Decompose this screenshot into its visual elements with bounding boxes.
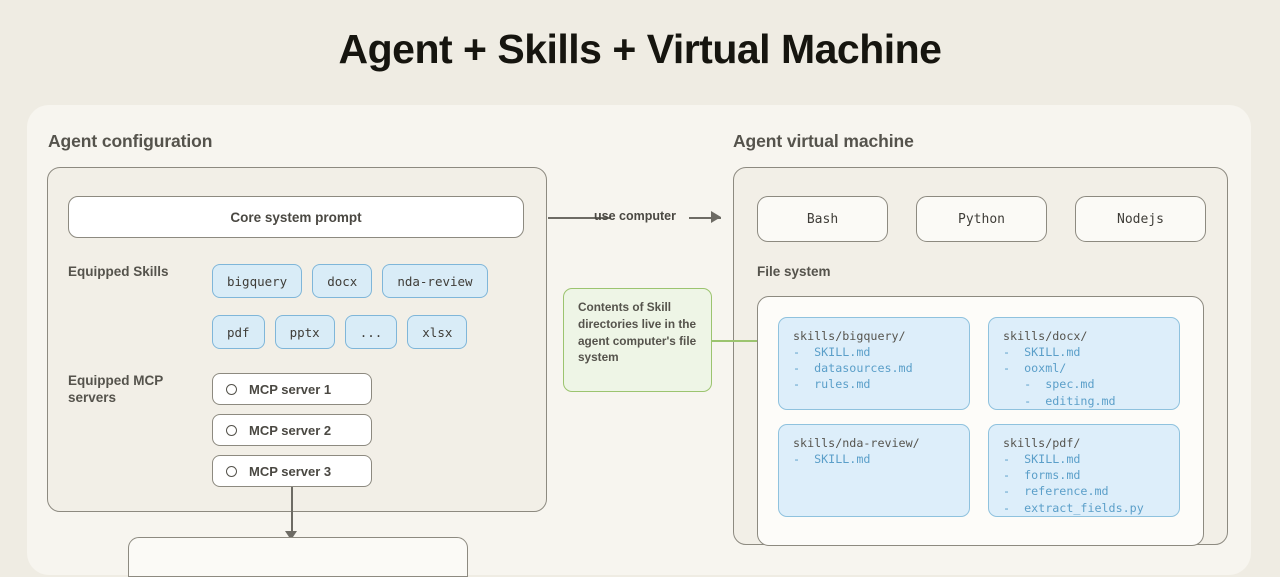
- circle-icon: [226, 466, 237, 477]
- directory-entry: - SKILL.md: [793, 451, 969, 467]
- equipped-skills-label: Equipped Skills: [68, 264, 169, 281]
- skill-chip[interactable]: pdf: [212, 315, 265, 349]
- skill-directory-card[interactable]: skills/docx/ - SKILL.md - ooxml/ - spec.…: [988, 317, 1180, 410]
- directory-path: skills/nda-review/: [793, 435, 969, 451]
- directory-entry: - editing.md: [1003, 393, 1179, 409]
- mcp-server-label: MCP server 2: [249, 423, 331, 438]
- mcp-server-row[interactable]: MCP server 3: [212, 455, 372, 487]
- equipped-mcp-servers-label: Equipped MCP servers: [68, 373, 198, 407]
- directory-path: skills/pdf/: [1003, 435, 1179, 451]
- file-system-grid: skills/bigquery/ - SKILL.md - datasource…: [778, 317, 1183, 517]
- use-computer-label: use computer: [594, 209, 676, 223]
- agent-configuration-heading: Agent configuration: [48, 131, 212, 152]
- skill-chip[interactable]: bigquery: [212, 264, 302, 298]
- runtime-chip-python[interactable]: Python: [916, 196, 1047, 242]
- runtime-chip-bash[interactable]: Bash: [757, 196, 888, 242]
- file-system-label: File system: [757, 264, 831, 279]
- mcp-down-connector-line: [291, 487, 293, 537]
- skill-contents-callout: Contents of Skill directories live in th…: [563, 288, 712, 392]
- skill-chips-row-2: pdf pptx ... xlsx: [212, 315, 467, 349]
- directory-entry: - reference.md: [1003, 483, 1179, 499]
- page-title: Agent + Skills + Virtual Machine: [0, 26, 1280, 73]
- skill-chips-row-1: bigquery docx nda-review: [212, 264, 488, 298]
- skill-chip[interactable]: nda-review: [382, 264, 487, 298]
- directory-path: skills/bigquery/: [793, 328, 969, 344]
- circle-icon: [226, 425, 237, 436]
- mcp-server-label: MCP server 1: [249, 382, 331, 397]
- mcp-server-label: MCP server 3: [249, 464, 331, 479]
- directory-entry: - SKILL.md: [1003, 344, 1179, 360]
- skill-chip[interactable]: docx: [312, 264, 372, 298]
- directory-entry: - rules.md: [793, 376, 969, 392]
- mcp-server-list: MCP server 1 MCP server 2 MCP server 3: [212, 373, 372, 496]
- runtime-chips: Bash Python Nodejs: [757, 196, 1206, 242]
- bottom-partial-box: [128, 537, 468, 577]
- arrow-right-icon: [711, 211, 721, 223]
- skill-chip[interactable]: xlsx: [407, 315, 467, 349]
- directory-entry: - forms.md: [1003, 467, 1179, 483]
- directory-entry: - datasources.md: [793, 360, 969, 376]
- skill-directory-card[interactable]: skills/bigquery/ - SKILL.md - datasource…: [778, 317, 970, 410]
- circle-icon: [226, 384, 237, 395]
- skill-chip-overflow[interactable]: ...: [345, 315, 398, 349]
- directory-entry: - spec.md: [1003, 376, 1179, 392]
- directory-entry: - SKILL.md: [793, 344, 969, 360]
- directory-path: skills/docx/: [1003, 328, 1179, 344]
- runtime-chip-nodejs[interactable]: Nodejs: [1075, 196, 1206, 242]
- mcp-server-row[interactable]: MCP server 2: [212, 414, 372, 446]
- directory-entry: - SKILL.md: [1003, 451, 1179, 467]
- mcp-server-row[interactable]: MCP server 1: [212, 373, 372, 405]
- skill-directory-card[interactable]: skills/nda-review/ - SKILL.md: [778, 424, 970, 517]
- directory-entry: - extract_fields.py: [1003, 500, 1179, 516]
- directory-entry: - ooxml/: [1003, 360, 1179, 376]
- skill-chip[interactable]: pptx: [275, 315, 335, 349]
- core-system-prompt-box[interactable]: Core system prompt: [68, 196, 524, 238]
- skill-directory-card[interactable]: skills/pdf/ - SKILL.md - forms.md - refe…: [988, 424, 1180, 517]
- agent-virtual-machine-heading: Agent virtual machine: [733, 131, 914, 152]
